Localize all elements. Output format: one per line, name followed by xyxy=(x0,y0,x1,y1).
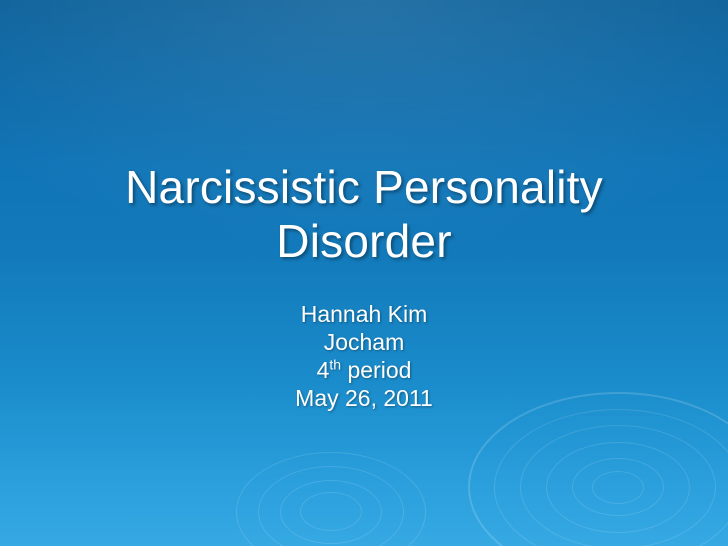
subtitle-author: Hannah Kim xyxy=(0,300,728,328)
decorative-rings-large xyxy=(468,392,728,546)
period-number: 4 xyxy=(317,357,330,383)
subtitle-period: 4th period xyxy=(0,356,728,384)
slide-subtitle: Hannah Kim Jocham 4th period May 26, 201… xyxy=(0,300,728,412)
period-word: period xyxy=(347,357,411,383)
subtitle-teacher: Jocham xyxy=(0,328,728,356)
period-ordinal-suffix: th xyxy=(329,356,341,372)
decorative-rings-small xyxy=(236,452,426,546)
presentation-slide: Narcissistic Personality Disorder Hannah… xyxy=(0,0,728,546)
slide-content: Narcissistic Personality Disorder Hannah… xyxy=(0,0,728,412)
slide-title: Narcissistic Personality Disorder xyxy=(0,160,728,268)
subtitle-date: May 26, 2011 xyxy=(0,384,728,412)
